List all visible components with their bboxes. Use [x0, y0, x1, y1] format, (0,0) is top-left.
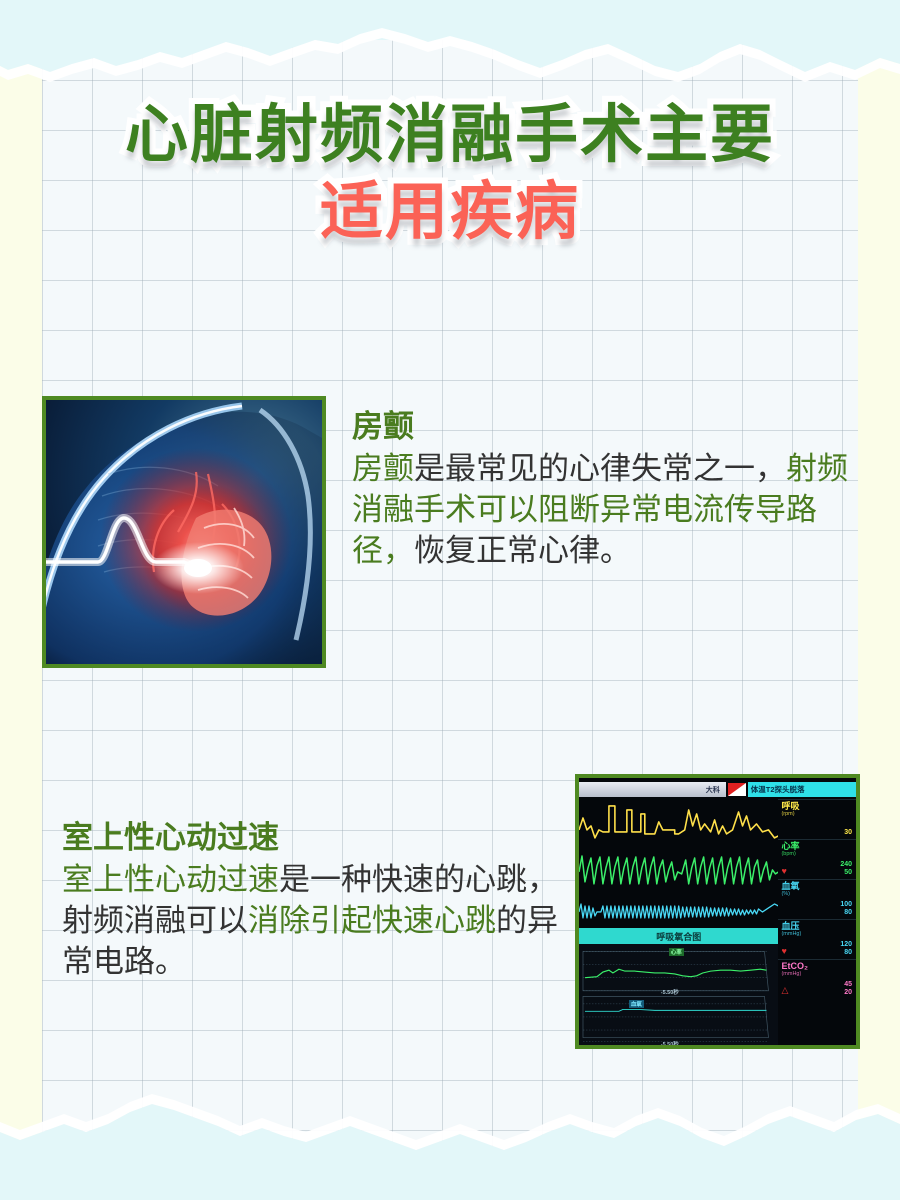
heart-icon: ♥: [781, 866, 786, 876]
waveform-spo2: [579, 898, 778, 928]
vital-respiration-hi: 30: [844, 829, 852, 836]
vital-spo2-hi: 100: [840, 901, 852, 908]
title-line-1: 心脏射频消融手术主要: [0, 100, 900, 171]
chest-pain-illustration: [42, 396, 326, 668]
triangle-icon: △: [781, 985, 788, 996]
vital-etco2: EtCO₂ (mmHg) △ 4520: [778, 959, 856, 999]
monitor-section-title: 呼吸氧合图: [579, 928, 778, 944]
vital-heart-rate-name: 心率: [781, 842, 853, 851]
vital-heart-rate-lo: 50: [844, 869, 852, 876]
vital-etco2-hi: 45: [844, 981, 852, 988]
vital-respiration-unit: (rpm): [781, 811, 853, 818]
vital-heart-rate-hi: 240: [840, 861, 852, 868]
vital-spo2: 血氧 (%) 10080: [778, 879, 856, 919]
waveform-ecg: [579, 848, 778, 900]
section-afib-heading: 房颤: [352, 407, 852, 448]
trend-scale-2: -5.50秒: [659, 1040, 681, 1048]
title-line-2: 适用疾病: [0, 177, 900, 248]
vital-blood-pressure-hi: 120: [840, 941, 852, 948]
monitor-screen: 大科 体温T2探头脱落: [579, 778, 856, 1045]
section-afib-text: 房颤 房颤是最常见的心律失常之一，射频消融手术可以阻断异常电流传导路径，恢复正常…: [352, 407, 852, 572]
section-svt-text: 室上性心动过速 室上性心动过速是一种快速的心跳，射频消融可以消除引起快速心跳的异…: [62, 818, 562, 983]
vital-spo2-name: 血氧: [781, 882, 853, 891]
afib-seg-4: 恢复正常心律。: [414, 533, 631, 569]
trend-label-hr: 心率: [669, 948, 684, 956]
vital-blood-pressure-lo: 80: [844, 949, 852, 956]
vital-blood-pressure: 血压 (mmHg) ♥ 12080: [778, 919, 856, 959]
vital-spo2-unit: (%): [781, 891, 853, 898]
vital-heart-rate-unit: (bpm): [781, 851, 853, 858]
vital-respiration: 呼吸 (rpm) 30: [778, 799, 856, 839]
section-afib-paragraph: 房颤是最常见的心律失常之一，射频消融手术可以阻断异常电流传导路径，恢复正常心律。: [352, 449, 852, 572]
afib-seg-2: 是最常见的心律失常之一，: [414, 451, 786, 487]
monitor-department-label: 大科: [579, 782, 726, 797]
monitor-top-bar: 大科 体温T2探头脱落: [579, 781, 856, 798]
trend-scale-1: -5.50秒: [659, 988, 681, 996]
vital-heart-rate: 心率 (bpm) ♥ 24050: [778, 839, 856, 879]
svt-seg-1: 室上性心动过速: [62, 862, 279, 898]
vital-blood-pressure-name: 血压: [781, 922, 853, 931]
vital-etco2-lo: 20: [844, 989, 852, 996]
vital-blood-pressure-unit: (mmHg): [781, 931, 853, 938]
patient-monitor-photo: 大科 体温T2探头脱落: [575, 774, 860, 1049]
monitor-trend-panel: 心率 -5.50秒 血氧 -5.50秒: [579, 944, 778, 1045]
vital-etco2-name: EtCO₂: [781, 962, 853, 971]
vital-respiration-name: 呼吸: [781, 802, 853, 811]
poster-title: 心脏射频消融手术主要 适用疾病: [0, 100, 900, 247]
monitor-alert-banner: 体温T2探头脱落: [748, 782, 856, 797]
vital-spo2-lo: 80: [844, 909, 852, 916]
heart-icon: ♥: [781, 946, 786, 956]
afib-seg-1: 房颤: [352, 451, 414, 487]
section-svt-paragraph: 室上性心动过速是一种快速的心跳，射频消融可以消除引起快速心跳的异常电路。: [62, 860, 562, 983]
vital-etco2-unit: (mmHg): [781, 971, 853, 978]
section-svt-heading: 室上性心动过速: [62, 818, 562, 859]
monitor-vitals-sidebar: 呼吸 (rpm) 30 心率 (bpm) ♥ 24050 血氧 (%) 1008…: [778, 799, 856, 1045]
waveform-respiration: [579, 800, 778, 852]
flag-icon: [728, 783, 746, 796]
svt-seg-3: 消除引起快速心跳: [248, 903, 496, 939]
poster-page: 心脏射频消融手术主要 适用疾病: [0, 0, 900, 1200]
trend-label-spo2: 血氧: [629, 1000, 644, 1008]
